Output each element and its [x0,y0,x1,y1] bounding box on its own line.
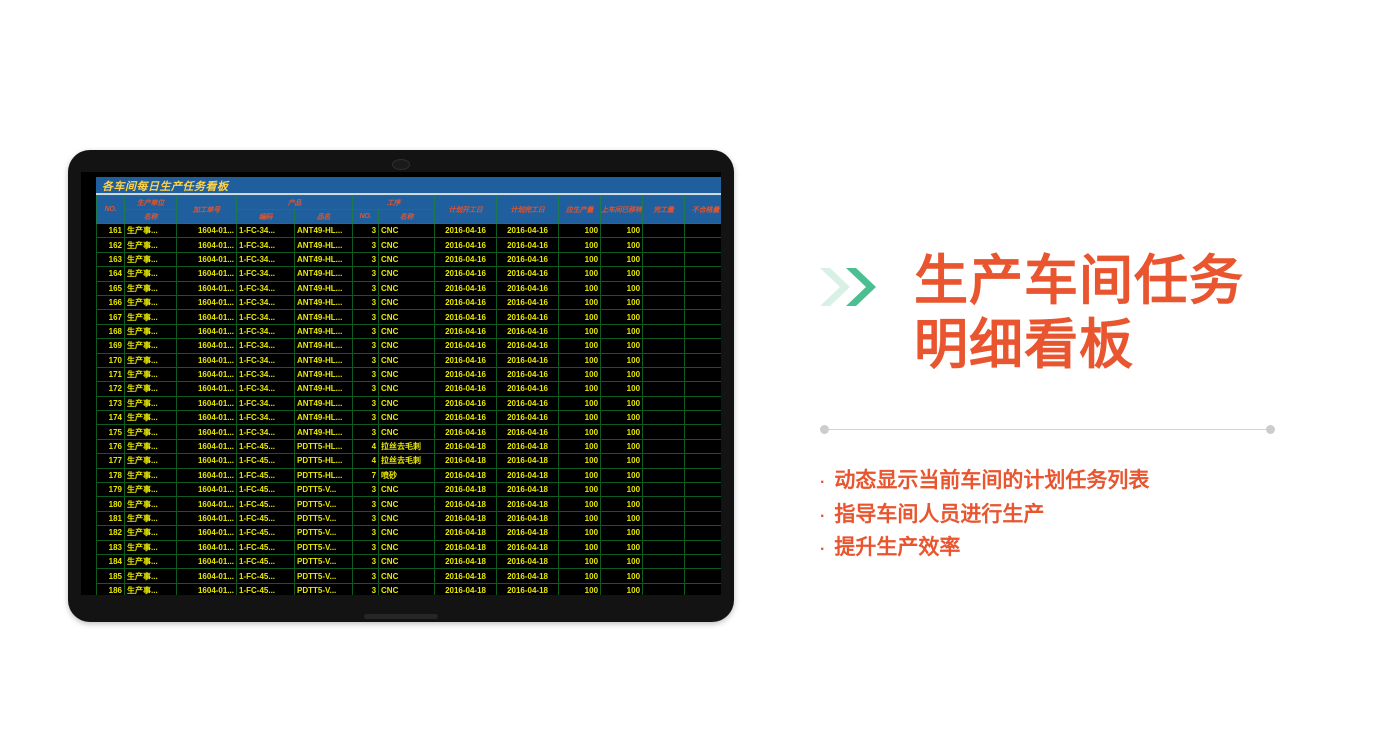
table-cell-工序名称: CNC [379,569,435,583]
table-cell-计划完工日: 2016-04-16 [497,252,559,266]
table-cell-工序NO.: 3 [353,411,379,425]
table-row[interactable]: 169生产事...1604-01...1-FC-34...ANT49-HL...… [97,339,722,353]
bullet-dot-icon: · [820,475,825,491]
table-cell-产品编码: 1-FC-34... [237,339,295,353]
double-chevron-right-icon [820,266,884,313]
table-cell-计划完工日: 2016-04-16 [497,396,559,410]
table-cell-产品编码: 1-FC-34... [237,281,295,295]
table-cell-完工量 [643,353,685,367]
headline-title: 生产车间任务明细看板 [914,250,1290,377]
table-cell-产品编码: 1-FC-45... [237,526,295,540]
table-cell-NO.: 166 [97,295,125,309]
table-cell-不合格量 [685,483,721,497]
table-cell-工序NO.: 3 [353,396,379,410]
col-header-product-group: 产品 [237,196,353,210]
table-cell-产品编码: 1-FC-34... [237,310,295,324]
table-cell-生产单位名称: 生产事... [125,324,177,338]
table-cell-完工量 [643,425,685,439]
table-cell-应生产量: 100 [559,224,601,238]
table-cell-计划完工日: 2016-04-18 [497,439,559,453]
table-cell-上车间已移转量: 100 [601,324,643,338]
table-cell-应生产量: 100 [559,540,601,554]
table-cell-加工单号: 1604-01... [177,295,237,309]
table-cell-工序NO.: 3 [353,238,379,252]
table-cell-不合格量 [685,252,721,266]
table-cell-产品品名: ANT49-HL... [295,224,353,238]
table-cell-完工量 [643,324,685,338]
table-cell-计划完工日: 2016-04-18 [497,526,559,540]
table-cell-工序NO.: 3 [353,339,379,353]
table-cell-计划完工日: 2016-04-18 [497,454,559,468]
laptop-device-mockup: 各车间每日生产任务看板 [68,150,734,622]
table-cell-工序NO.: 3 [353,569,379,583]
table-cell-计划开工日: 2016-04-16 [435,324,497,338]
table-row[interactable]: 162生产事...1604-01...1-FC-34...ANT49-HL...… [97,238,722,252]
table-row[interactable]: 177生产事...1604-01...1-FC-45...PDTT5-HL...… [97,454,722,468]
table-cell-NO.: 163 [97,252,125,266]
table-row[interactable]: 167生产事...1604-01...1-FC-34...ANT49-HL...… [97,310,722,324]
table-cell-不合格量 [685,411,721,425]
table-cell-产品品名: ANT49-HL... [295,411,353,425]
table-cell-计划完工日: 2016-04-16 [497,281,559,295]
table-cell-生产单位名称: 生产事... [125,281,177,295]
table-cell-上车间已移转量: 100 [601,224,643,238]
table-cell-应生产量: 100 [559,238,601,252]
table-cell-工序名称: CNC [379,238,435,252]
table-row[interactable]: 172生产事...1604-01...1-FC-34...ANT49-HL...… [97,382,722,396]
col-header-product-name: 品名 [295,210,353,224]
feature-bullet-item: ·动态显示当前车间的计划任务列表 [820,464,1290,497]
table-cell-产品编码: 1-FC-45... [237,468,295,482]
table-cell-上车间已移转量: 100 [601,339,643,353]
table-cell-生产单位名称: 生产事... [125,295,177,309]
table-cell-不合格量 [685,267,721,281]
table-cell-生产单位名称: 生产事... [125,310,177,324]
table-cell-不合格量 [685,526,721,540]
table-cell-生产单位名称: 生产事... [125,526,177,540]
table-cell-产品品名: ANT49-HL... [295,295,353,309]
table-cell-计划完工日: 2016-04-18 [497,483,559,497]
table-cell-产品编码: 1-FC-45... [237,454,295,468]
table-cell-应生产量: 100 [559,353,601,367]
feature-bullet-list: ·动态显示当前车间的计划任务列表·指导车间人员进行生产·提升生产效率 [820,464,1290,564]
table-row[interactable]: 170生产事...1604-01...1-FC-34...ANT49-HL...… [97,353,722,367]
table-cell-工序名称: CNC [379,252,435,266]
table-cell-工序名称: CNC [379,540,435,554]
table-cell-生产单位名称: 生产事... [125,554,177,568]
table-cell-计划完工日: 2016-04-16 [497,310,559,324]
table-row[interactable]: 165生产事...1604-01...1-FC-34...ANT49-HL...… [97,281,722,295]
table-cell-加工单号: 1604-01... [177,554,237,568]
table-cell-工序名称: 拉丝去毛刺 [379,454,435,468]
table-cell-应生产量: 100 [559,526,601,540]
table-cell-产品品名: PDTT5-V... [295,554,353,568]
feature-bullet-item: ·提升生产效率 [820,531,1290,564]
table-cell-不合格量 [685,238,721,252]
table-cell-生产单位名称: 生产事... [125,425,177,439]
table-cell-工序名称: CNC [379,353,435,367]
table-cell-产品品名: ANT49-HL... [295,367,353,381]
table-body: 161生产事...1604-01...1-FC-34...ANT49-HL...… [97,224,722,596]
divider [820,425,1275,434]
table-cell-生产单位名称: 生产事... [125,411,177,425]
table-cell-完工量 [643,339,685,353]
table-cell-应生产量: 100 [559,569,601,583]
table-cell-上车间已移转量: 100 [601,367,643,381]
table-cell-计划完工日: 2016-04-16 [497,353,559,367]
col-header-completed-qty: 完工量 [643,196,685,224]
table-cell-NO.: 175 [97,425,125,439]
table-cell-上车间已移转量: 100 [601,425,643,439]
table-cell-上车间已移转量: 100 [601,526,643,540]
table-cell-产品品名: PDTT5-V... [295,583,353,595]
table-cell-生产单位名称: 生产事... [125,238,177,252]
table-cell-完工量 [643,396,685,410]
table-cell-生产单位名称: 生产事... [125,382,177,396]
table-cell-产品品名: PDTT5-V... [295,569,353,583]
table-cell-上车间已移转量: 100 [601,238,643,252]
table-cell-完工量 [643,238,685,252]
table-row[interactable]: 163生产事...1604-01...1-FC-34...ANT49-HL...… [97,252,722,266]
col-header-process-no: NO. [353,210,379,224]
table-cell-NO.: 161 [97,224,125,238]
table-cell-生产单位名称: 生产事... [125,497,177,511]
table-cell-产品品名: PDTT5-HL... [295,468,353,482]
table-cell-完工量 [643,569,685,583]
table-cell-工序名称: CNC [379,411,435,425]
table-row[interactable]: 171生产事...1604-01...1-FC-34...ANT49-HL...… [97,367,722,381]
table-cell-应生产量: 100 [559,281,601,295]
table-cell-上车间已移转量: 100 [601,454,643,468]
table-cell-不合格量 [685,339,721,353]
table-cell-加工单号: 1604-01... [177,396,237,410]
table-cell-应生产量: 100 [559,252,601,266]
table-cell-工序名称: CNC [379,396,435,410]
table-cell-产品品名: ANT49-HL... [295,339,353,353]
table-cell-不合格量 [685,468,721,482]
table-cell-计划完工日: 2016-04-18 [497,540,559,554]
col-header-process-group: 工序 [353,196,435,210]
divider-line [824,429,1271,430]
table-cell-产品编码: 1-FC-45... [237,483,295,497]
table-cell-产品品名: ANT49-HL... [295,310,353,324]
feature-bullet-text: 动态显示当前车间的计划任务列表 [834,464,1149,497]
table-cell-上车间已移转量: 100 [601,382,643,396]
table-cell-NO.: 180 [97,497,125,511]
table-cell-计划开工日: 2016-04-16 [435,353,497,367]
table-cell-NO.: 183 [97,540,125,554]
table-cell-计划开工日: 2016-04-18 [435,454,497,468]
table-cell-上车间已移转量: 100 [601,281,643,295]
table-cell-工序NO.: 3 [353,540,379,554]
table-cell-工序名称: 拉丝去毛刺 [379,439,435,453]
table-cell-计划完工日: 2016-04-16 [497,382,559,396]
table-cell-计划开工日: 2016-04-16 [435,310,497,324]
table-cell-加工单号: 1604-01... [177,238,237,252]
table-cell-应生产量: 100 [559,454,601,468]
table-cell-不合格量 [685,324,721,338]
table-cell-不合格量 [685,554,721,568]
table-cell-应生产量: 100 [559,339,601,353]
table-cell-NO.: 162 [97,238,125,252]
table-row[interactable]: 166生产事...1604-01...1-FC-34...ANT49-HL...… [97,295,722,309]
table-cell-计划开工日: 2016-04-16 [435,295,497,309]
table-cell-上车间已移转量: 100 [601,267,643,281]
table-cell-上车间已移转量: 100 [601,411,643,425]
table-cell-不合格量 [685,295,721,309]
table-cell-应生产量: 100 [559,267,601,281]
table-cell-不合格量 [685,310,721,324]
table-cell-计划开工日: 2016-04-18 [435,540,497,554]
table-cell-工序名称: CNC [379,281,435,295]
table-cell-完工量 [643,526,685,540]
table-cell-计划开工日: 2016-04-16 [435,382,497,396]
table-cell-计划完工日: 2016-04-18 [497,569,559,583]
table-cell-计划完工日: 2016-04-16 [497,238,559,252]
table-cell-计划完工日: 2016-04-16 [497,425,559,439]
table-cell-上车间已移转量: 100 [601,483,643,497]
table-cell-工序NO.: 4 [353,439,379,453]
info-panel: 生产车间任务明细看板 ·动态显示当前车间的计划任务列表·指导车间人员进行生产·提… [820,250,1290,564]
table-cell-产品品名: ANT49-HL... [295,267,353,281]
table-header-row-group: NO. 生产单位 加工单号 产品 工序 计划开工日 计划完工日 应生产量 上车间… [97,196,722,210]
table-cell-计划开工日: 2016-04-18 [435,583,497,595]
table-cell-工序名称: CNC [379,497,435,511]
col-header-plan-start: 计划开工日 [435,196,497,224]
bullet-dot-icon: · [820,542,825,558]
table-cell-上车间已移转量: 100 [601,569,643,583]
table-cell-工序NO.: 3 [353,497,379,511]
table-cell-计划完工日: 2016-04-16 [497,295,559,309]
table-cell-上车间已移转量: 100 [601,497,643,511]
table-cell-工序NO.: 3 [353,483,379,497]
table-cell-工序名称: CNC [379,554,435,568]
table-cell-完工量 [643,439,685,453]
table-cell-计划完工日: 2016-04-16 [497,339,559,353]
table-cell-加工单号: 1604-01... [177,224,237,238]
table-cell-加工单号: 1604-01... [177,339,237,353]
table-cell-应生产量: 100 [559,583,601,595]
table-cell-产品编码: 1-FC-34... [237,238,295,252]
table-cell-上车间已移转量: 100 [601,468,643,482]
table-cell-NO.: 172 [97,382,125,396]
table-cell-完工量 [643,310,685,324]
table-cell-不合格量 [685,281,721,295]
table-cell-产品编码: 1-FC-34... [237,396,295,410]
table-cell-产品品名: PDTT5-V... [295,511,353,525]
table-cell-计划开工日: 2016-04-18 [435,526,497,540]
table-cell-产品编码: 1-FC-45... [237,439,295,453]
table-cell-产品编码: 1-FC-34... [237,353,295,367]
table-cell-计划开工日: 2016-04-18 [435,569,497,583]
table-cell-上车间已移转量: 100 [601,310,643,324]
table-cell-工序名称: CNC [379,310,435,324]
feature-bullet-text: 指导车间人员进行生产 [834,498,1044,531]
col-header-planned-qty: 应生产量 [559,196,601,224]
table-cell-生产单位名称: 生产事... [125,569,177,583]
table-cell-计划开工日: 2016-04-16 [435,281,497,295]
table-cell-计划开工日: 2016-04-16 [435,224,497,238]
table-cell-完工量 [643,583,685,595]
table-row[interactable]: 176生产事...1604-01...1-FC-45...PDTT5-HL...… [97,439,722,453]
table-cell-应生产量: 100 [559,324,601,338]
table-cell-产品编码: 1-FC-34... [237,382,295,396]
table-cell-工序名称: CNC [379,526,435,540]
table-cell-工序名称: CNC [379,224,435,238]
table-cell-NO.: 176 [97,439,125,453]
table-cell-不合格量 [685,569,721,583]
table-cell-计划完工日: 2016-04-18 [497,554,559,568]
table-row[interactable]: 178生产事...1604-01...1-FC-45...PDTT5-HL...… [97,468,722,482]
table-cell-生产单位名称: 生产事... [125,540,177,554]
table-cell-不合格量 [685,439,721,453]
table-row[interactable]: 174生产事...1604-01...1-FC-34...ANT49-HL...… [97,411,722,425]
table-cell-不合格量 [685,396,721,410]
table-row[interactable]: 175生产事...1604-01...1-FC-34...ANT49-HL...… [97,425,722,439]
table-cell-不合格量 [685,367,721,381]
table-row[interactable]: 185生产事...1604-01...1-FC-45...PDTT5-V...3… [97,569,722,583]
table-cell-不合格量 [685,224,721,238]
col-header-no: NO. [97,196,125,224]
table-cell-计划开工日: 2016-04-16 [435,252,497,266]
table-cell-工序NO.: 3 [353,324,379,338]
table-cell-应生产量: 100 [559,382,601,396]
table-cell-应生产量: 100 [559,396,601,410]
table-cell-产品编码: 1-FC-34... [237,224,295,238]
table-cell-工序NO.: 3 [353,295,379,309]
table-cell-NO.: 170 [97,353,125,367]
table-cell-工序NO.: 3 [353,382,379,396]
table-cell-上车间已移转量: 100 [601,554,643,568]
table-cell-应生产量: 100 [559,411,601,425]
table-cell-上车间已移转量: 100 [601,540,643,554]
dashboard-title: 各车间每日生产任务看板 [102,181,229,193]
table-cell-计划开工日: 2016-04-16 [435,425,497,439]
table-cell-计划完工日: 2016-04-16 [497,324,559,338]
table-cell-应生产量: 100 [559,295,601,309]
table-cell-上车间已移转量: 100 [601,353,643,367]
table-cell-生产单位名称: 生产事... [125,396,177,410]
table-cell-产品品名: PDTT5-V... [295,497,353,511]
production-task-table: NO. 生产单位 加工单号 产品 工序 计划开工日 计划完工日 应生产量 上车间… [96,195,721,595]
table-cell-生产单位名称: 生产事... [125,339,177,353]
table-row[interactable]: 180生产事...1604-01...1-FC-45...PDTT5-V...3… [97,497,722,511]
table-cell-应生产量: 100 [559,497,601,511]
table-cell-工序名称: CNC [379,295,435,309]
table-cell-产品品名: ANT49-HL... [295,324,353,338]
table-cell-工序NO.: 3 [353,281,379,295]
table-cell-工序NO.: 3 [353,224,379,238]
table-row[interactable]: 173生产事...1604-01...1-FC-34...ANT49-HL...… [97,396,722,410]
table-cell-加工单号: 1604-01... [177,569,237,583]
table-cell-不合格量 [685,382,721,396]
dashboard-title-bar: 各车间每日生产任务看板 [96,177,721,195]
table-cell-产品品名: PDTT5-HL... [295,439,353,453]
table-cell-生产单位名称: 生产事... [125,224,177,238]
table-cell-计划开工日: 2016-04-16 [435,411,497,425]
table-row[interactable]: 186生产事...1604-01...1-FC-45...PDTT5-V...3… [97,583,722,595]
table-row[interactable]: 181生产事...1604-01...1-FC-45...PDTT5-V...3… [97,511,722,525]
table-cell-产品品名: PDTT5-V... [295,483,353,497]
table-cell-应生产量: 100 [559,425,601,439]
table-row[interactable]: 184生产事...1604-01...1-FC-45...PDTT5-V...3… [97,554,722,568]
table-cell-产品编码: 1-FC-34... [237,324,295,338]
table-cell-计划开工日: 2016-04-16 [435,339,497,353]
table-row[interactable]: 179生产事...1604-01...1-FC-45...PDTT5-V...3… [97,483,722,497]
table-cell-NO.: 165 [97,281,125,295]
table-cell-工序名称: 喷砂 [379,468,435,482]
table-cell-计划开工日: 2016-04-18 [435,511,497,525]
table-cell-工序名称: CNC [379,324,435,338]
table-cell-工序NO.: 7 [353,468,379,482]
table-cell-不合格量 [685,583,721,595]
table-cell-产品品名: ANT49-HL... [295,281,353,295]
table-cell-完工量 [643,281,685,295]
table-cell-产品编码: 1-FC-34... [237,267,295,281]
table-cell-计划完工日: 2016-04-16 [497,267,559,281]
table-cell-应生产量: 100 [559,310,601,324]
table-cell-加工单号: 1604-01... [177,411,237,425]
table-cell-加工单号: 1604-01... [177,281,237,295]
table-cell-加工单号: 1604-01... [177,439,237,453]
table-cell-计划完工日: 2016-04-16 [497,367,559,381]
table-cell-NO.: 185 [97,569,125,583]
table-cell-计划开工日: 2016-04-18 [435,468,497,482]
table-cell-计划完工日: 2016-04-16 [497,224,559,238]
table-cell-产品品名: ANT49-HL... [295,238,353,252]
table-cell-计划开工日: 2016-04-18 [435,554,497,568]
table-cell-生产单位名称: 生产事... [125,267,177,281]
table-cell-NO.: 179 [97,483,125,497]
table-cell-完工量 [643,554,685,568]
table-cell-完工量 [643,252,685,266]
table-cell-NO.: 181 [97,511,125,525]
table-row[interactable]: 161生产事...1604-01...1-FC-34...ANT49-HL...… [97,224,722,238]
table-cell-完工量 [643,367,685,381]
table-row[interactable]: 183生产事...1604-01...1-FC-45...PDTT5-V...3… [97,540,722,554]
table-cell-完工量 [643,540,685,554]
webcam-icon [392,159,410,170]
table-cell-完工量 [643,411,685,425]
table-cell-产品编码: 1-FC-45... [237,583,295,595]
table-cell-生产单位名称: 生产事... [125,583,177,595]
table-cell-产品品名: ANT49-HL... [295,353,353,367]
table-row[interactable]: 168生产事...1604-01...1-FC-34...ANT49-HL...… [97,324,722,338]
col-header-unit-name: 名称 [125,210,177,224]
table-row[interactable]: 164生产事...1604-01...1-FC-34...ANT49-HL...… [97,267,722,281]
table-cell-计划完工日: 2016-04-18 [497,511,559,525]
col-header-plan-end: 计划完工日 [497,196,559,224]
table-cell-不合格量 [685,540,721,554]
table-cell-产品编码: 1-FC-45... [237,554,295,568]
table-cell-完工量 [643,295,685,309]
table-cell-完工量 [643,382,685,396]
table-cell-NO.: 168 [97,324,125,338]
production-kanban-dashboard: 各车间每日生产任务看板 [96,177,721,595]
table-cell-加工单号: 1604-01... [177,454,237,468]
table-cell-计划完工日: 2016-04-18 [497,497,559,511]
table-cell-NO.: 178 [97,468,125,482]
table-cell-工序NO.: 4 [353,454,379,468]
table-cell-工序名称: CNC [379,339,435,353]
table-cell-NO.: 169 [97,339,125,353]
table-cell-产品编码: 1-FC-45... [237,540,295,554]
table-cell-完工量 [643,483,685,497]
table-cell-加工单号: 1604-01... [177,367,237,381]
col-header-work-order: 加工单号 [177,196,237,224]
table-row[interactable]: 182生产事...1604-01...1-FC-45...PDTT5-V...3… [97,526,722,540]
table-cell-应生产量: 100 [559,511,601,525]
